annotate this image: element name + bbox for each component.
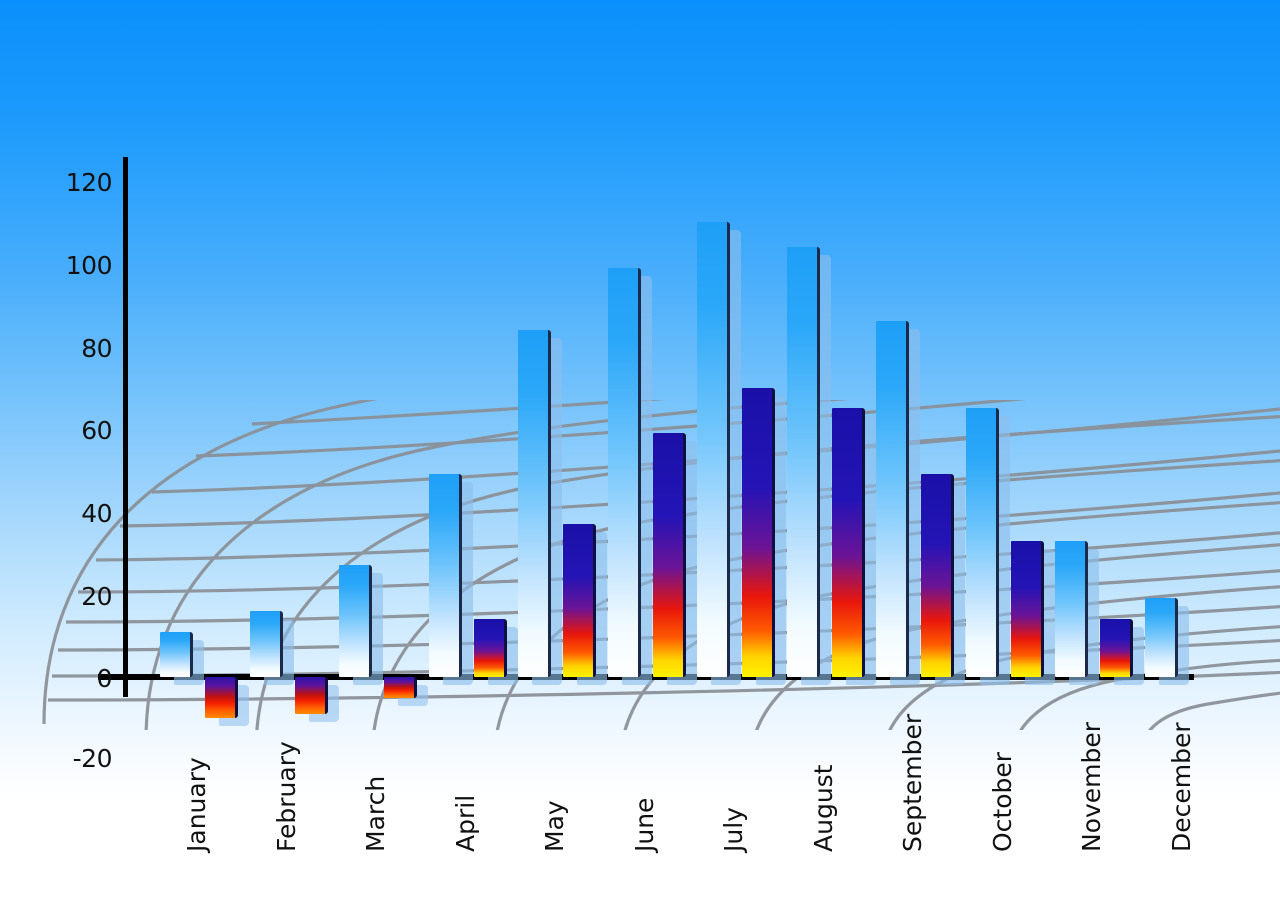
- bar-october-series2[interactable]: [1011, 541, 1041, 677]
- bar-group-may: [518, 0, 613, 905]
- x-label-september: September: [898, 714, 927, 852]
- bar-face: [250, 611, 283, 677]
- bar-face: [429, 474, 462, 677]
- chart-canvas: 120 100 80 60 40 20 0 -20 JanuaryFebruar…: [0, 0, 1280, 905]
- bar-face: [742, 388, 775, 677]
- bar-face: [518, 330, 551, 677]
- bar-november-series1[interactable]: [1055, 541, 1085, 677]
- bar-july-series2[interactable]: [742, 388, 772, 677]
- x-label-august: August: [809, 765, 838, 853]
- bar-face: [1055, 541, 1088, 677]
- bar-january-series2[interactable]: [205, 677, 235, 718]
- y-tick-neg20: -20: [40, 744, 112, 773]
- y-tick-80: 80: [50, 334, 112, 363]
- bar-face: [697, 222, 730, 677]
- bar-october-series1[interactable]: [966, 408, 996, 677]
- y-axis-line: [123, 157, 128, 697]
- bar-face: [966, 408, 999, 677]
- x-label-july: July: [719, 807, 748, 852]
- bar-april-series1[interactable]: [429, 474, 459, 677]
- y-tick-60: 60: [50, 416, 112, 445]
- y-tick-40: 40: [50, 499, 112, 528]
- bar-august-series1[interactable]: [787, 247, 817, 677]
- bar-face: [563, 524, 596, 677]
- bar-face: [1100, 619, 1133, 677]
- y-tick-0: 0: [50, 664, 112, 693]
- bar-face: [339, 565, 372, 677]
- x-label-november: November: [1077, 722, 1106, 852]
- bar-face: [384, 677, 417, 698]
- y-tick-20: 20: [50, 582, 112, 611]
- bar-august-series2[interactable]: [832, 408, 862, 677]
- bar-february-series1[interactable]: [250, 611, 280, 677]
- bar-face: [205, 677, 238, 718]
- bar-face: [295, 677, 328, 714]
- bar-face: [474, 619, 507, 677]
- x-label-april: April: [451, 795, 480, 852]
- bar-july-series1[interactable]: [697, 222, 727, 677]
- bar-face: [787, 247, 820, 677]
- x-label-october: October: [988, 752, 1017, 852]
- bar-march-series1[interactable]: [339, 565, 369, 677]
- x-label-may: May: [540, 800, 569, 852]
- bar-march-series2[interactable]: [384, 677, 414, 698]
- bar-group-april: [429, 0, 524, 905]
- bar-group-march: [339, 0, 434, 905]
- bar-face: [653, 433, 686, 677]
- bar-december-series1[interactable]: [1145, 598, 1175, 677]
- bar-april-series2[interactable]: [474, 619, 504, 677]
- bar-september-series2[interactable]: [921, 474, 951, 677]
- bar-face: [608, 268, 641, 677]
- y-tick-120: 120: [50, 168, 112, 197]
- bar-may-series2[interactable]: [563, 524, 593, 677]
- x-label-march: March: [361, 776, 390, 852]
- bar-group-june: [608, 0, 703, 905]
- bar-november-series2[interactable]: [1100, 619, 1130, 677]
- bar-september-series1[interactable]: [876, 321, 906, 677]
- bar-face: [832, 408, 865, 677]
- bar-june-series2[interactable]: [653, 433, 683, 677]
- x-label-january: January: [182, 757, 211, 852]
- x-label-february: February: [272, 741, 301, 852]
- bar-may-series1[interactable]: [518, 330, 548, 677]
- bar-june-series1[interactable]: [608, 268, 638, 677]
- bar-january-series1[interactable]: [160, 632, 190, 677]
- bar-group-july: [697, 0, 792, 905]
- x-label-june: June: [630, 798, 659, 852]
- bar-face: [1011, 541, 1044, 677]
- x-label-december: December: [1167, 722, 1196, 852]
- y-tick-100: 100: [50, 251, 112, 280]
- bar-february-series2[interactable]: [295, 677, 325, 714]
- bar-face: [921, 474, 954, 677]
- bar-face: [876, 321, 909, 677]
- bar-face: [1145, 598, 1178, 677]
- bar-face: [160, 632, 193, 677]
